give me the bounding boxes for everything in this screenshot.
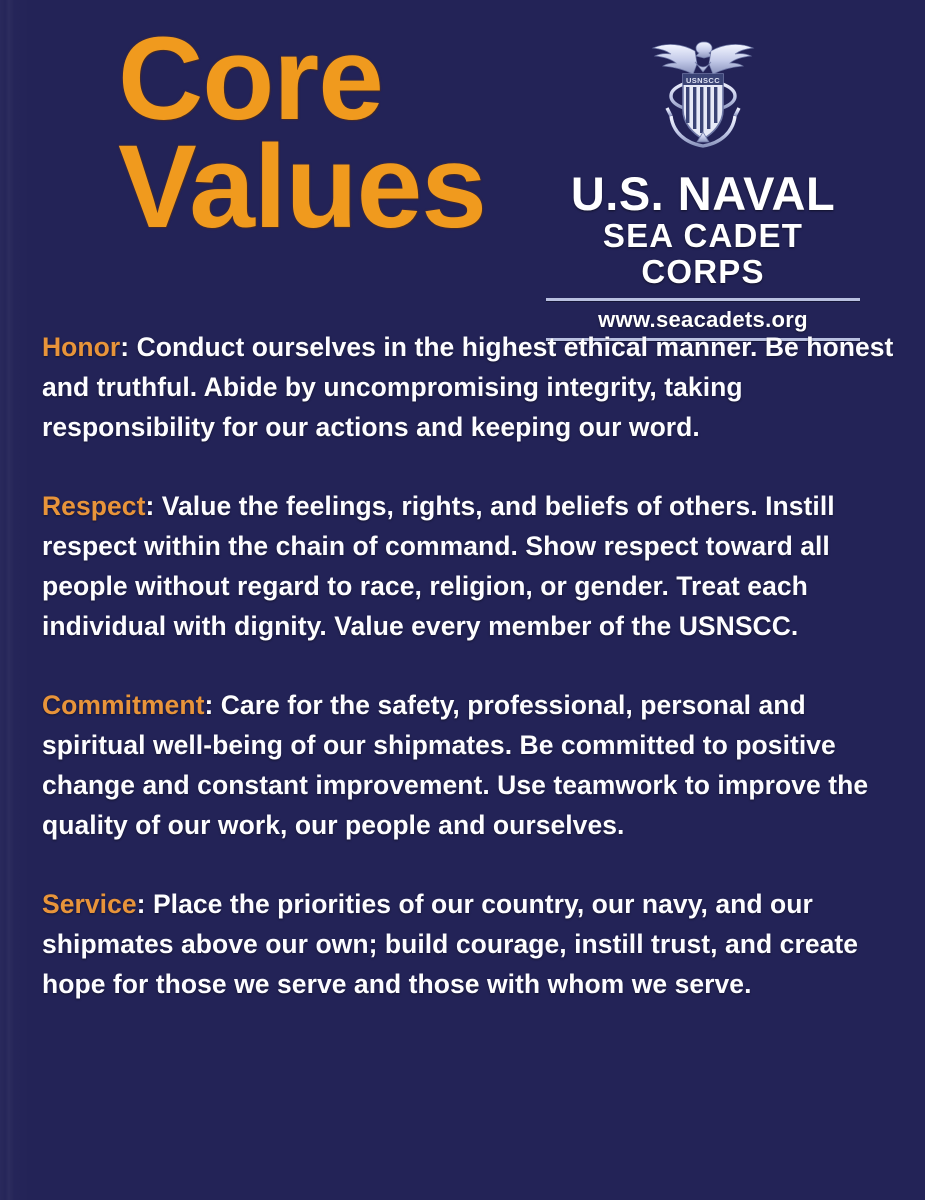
value-paragraph: Respect: Value the feelings, rights, and… xyxy=(42,486,894,646)
value-term-service: Service xyxy=(42,889,137,919)
value-paragraph: Service: Place the priorities of our cou… xyxy=(42,884,894,1004)
poster-header: Core Values xyxy=(0,0,925,290)
value-block-respect: Respect: Value the feelings, rights, and… xyxy=(42,486,894,646)
value-term-respect: Respect xyxy=(42,491,145,521)
value-description: Value the feelings, rights, and beliefs … xyxy=(42,491,835,641)
value-separator: : xyxy=(137,889,153,919)
usnscc-logo: USNSCC U.S. NAVAL SEA CADET CORPS www.se… xyxy=(543,24,863,341)
page-title: Core Values xyxy=(118,22,486,245)
logo-title-line1: U.S. NAVAL xyxy=(543,170,863,218)
value-paragraph: Honor: Conduct ourselves in the highest … xyxy=(42,327,894,447)
logo-title-line2: SEA CADET CORPS xyxy=(543,218,863,291)
value-separator: : xyxy=(204,690,220,720)
value-description: Place the priorities of our country, our… xyxy=(42,889,858,999)
value-block-commitment: Commitment: Care for the safety, profess… xyxy=(42,685,894,845)
title-line-values: Values xyxy=(118,130,486,244)
value-term-commitment: Commitment xyxy=(42,690,204,720)
value-block-honor: Honor: Conduct ourselves in the highest … xyxy=(42,327,894,447)
value-separator: : xyxy=(120,332,136,362)
value-term-honor: Honor xyxy=(42,332,120,362)
svg-text:USNSCC: USNSCC xyxy=(686,76,720,85)
core-values-poster: Core Values xyxy=(0,0,925,1200)
value-separator: : xyxy=(145,491,161,521)
core-values-list: Honor: Conduct ourselves in the highest … xyxy=(42,300,894,1030)
value-paragraph: Commitment: Care for the safety, profess… xyxy=(42,685,894,845)
usnscc-eagle-anchor-shield-emblem: USNSCC xyxy=(633,24,773,164)
value-description: Conduct ourselves in the highest ethical… xyxy=(42,332,893,442)
value-block-service: Service: Place the priorities of our cou… xyxy=(42,884,894,1004)
title-line-core: Core xyxy=(118,22,486,136)
